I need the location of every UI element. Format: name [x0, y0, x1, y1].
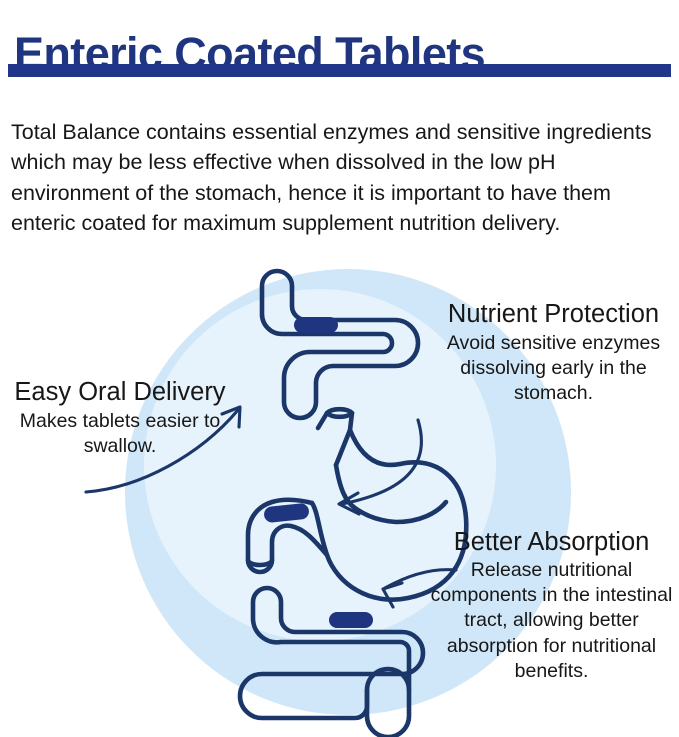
enteric-coated-tablets-infographic: Enteric Coated Tablets Total Balance con… — [0, 0, 679, 737]
callout-nutrient-protection: Nutrient Protection Avoid sensitive enzy… — [428, 300, 679, 407]
callout-easy-oral-delivery: Easy Oral Delivery Makes tablets easier … — [4, 378, 236, 459]
callout-body: Avoid sensitive enzymes dissolving early… — [428, 331, 679, 407]
title-divider-bar — [8, 64, 671, 77]
callout-heading: Nutrient Protection — [428, 300, 679, 329]
capsule-lower-intestine — [329, 612, 373, 628]
intro-paragraph: Total Balance contains essential enzymes… — [11, 117, 671, 239]
capsule-upper-intestine — [294, 317, 338, 333]
callout-better-absorption: Better Absorption Release nutritional co… — [424, 528, 679, 684]
callout-body: Makes tablets easier to swallow. — [4, 409, 236, 460]
callout-heading: Better Absorption — [424, 528, 679, 557]
callout-heading: Easy Oral Delivery — [4, 378, 236, 407]
callout-body: Release nutritional components in the in… — [424, 558, 679, 685]
